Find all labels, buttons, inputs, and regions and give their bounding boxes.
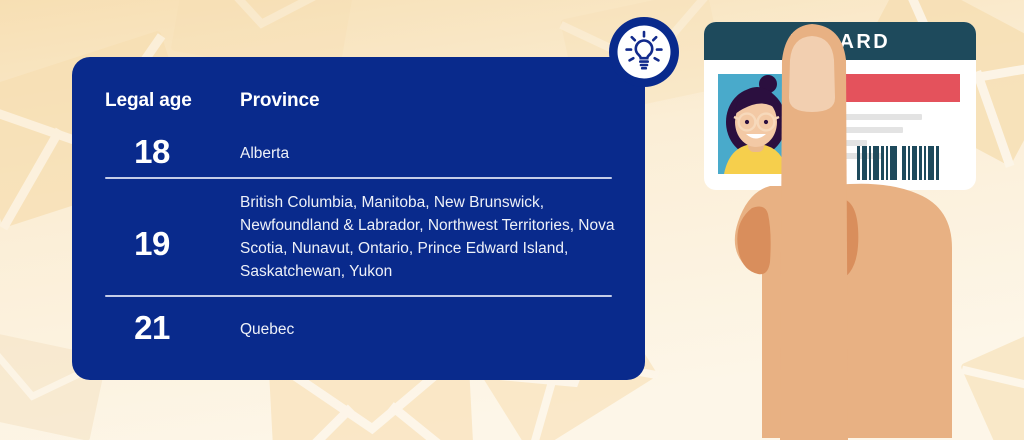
row-divider <box>105 177 612 179</box>
legal-age-table-card: Legal age Province 18 Alberta 19 British… <box>72 57 645 380</box>
table-row: British Columbia, Manitoba, New Brunswic… <box>240 191 615 283</box>
table-row: 18 <box>97 133 207 171</box>
id-card-and-hand: ID CARD <box>700 18 1024 440</box>
column-header-province: Province <box>240 90 319 112</box>
table-row: 19 <box>97 225 207 263</box>
column-header-legal-age: Legal age <box>105 90 192 112</box>
lightbulb-badge <box>608 16 680 88</box>
table-row: Alberta <box>240 142 615 165</box>
table-header-row: Legal age Province <box>105 90 615 118</box>
row-divider <box>105 295 612 297</box>
table-row: 21 <box>97 309 207 347</box>
table-row: Quebec <box>240 318 615 341</box>
legal-age-table: Legal age Province 18 Alberta 19 British… <box>72 57 645 380</box>
